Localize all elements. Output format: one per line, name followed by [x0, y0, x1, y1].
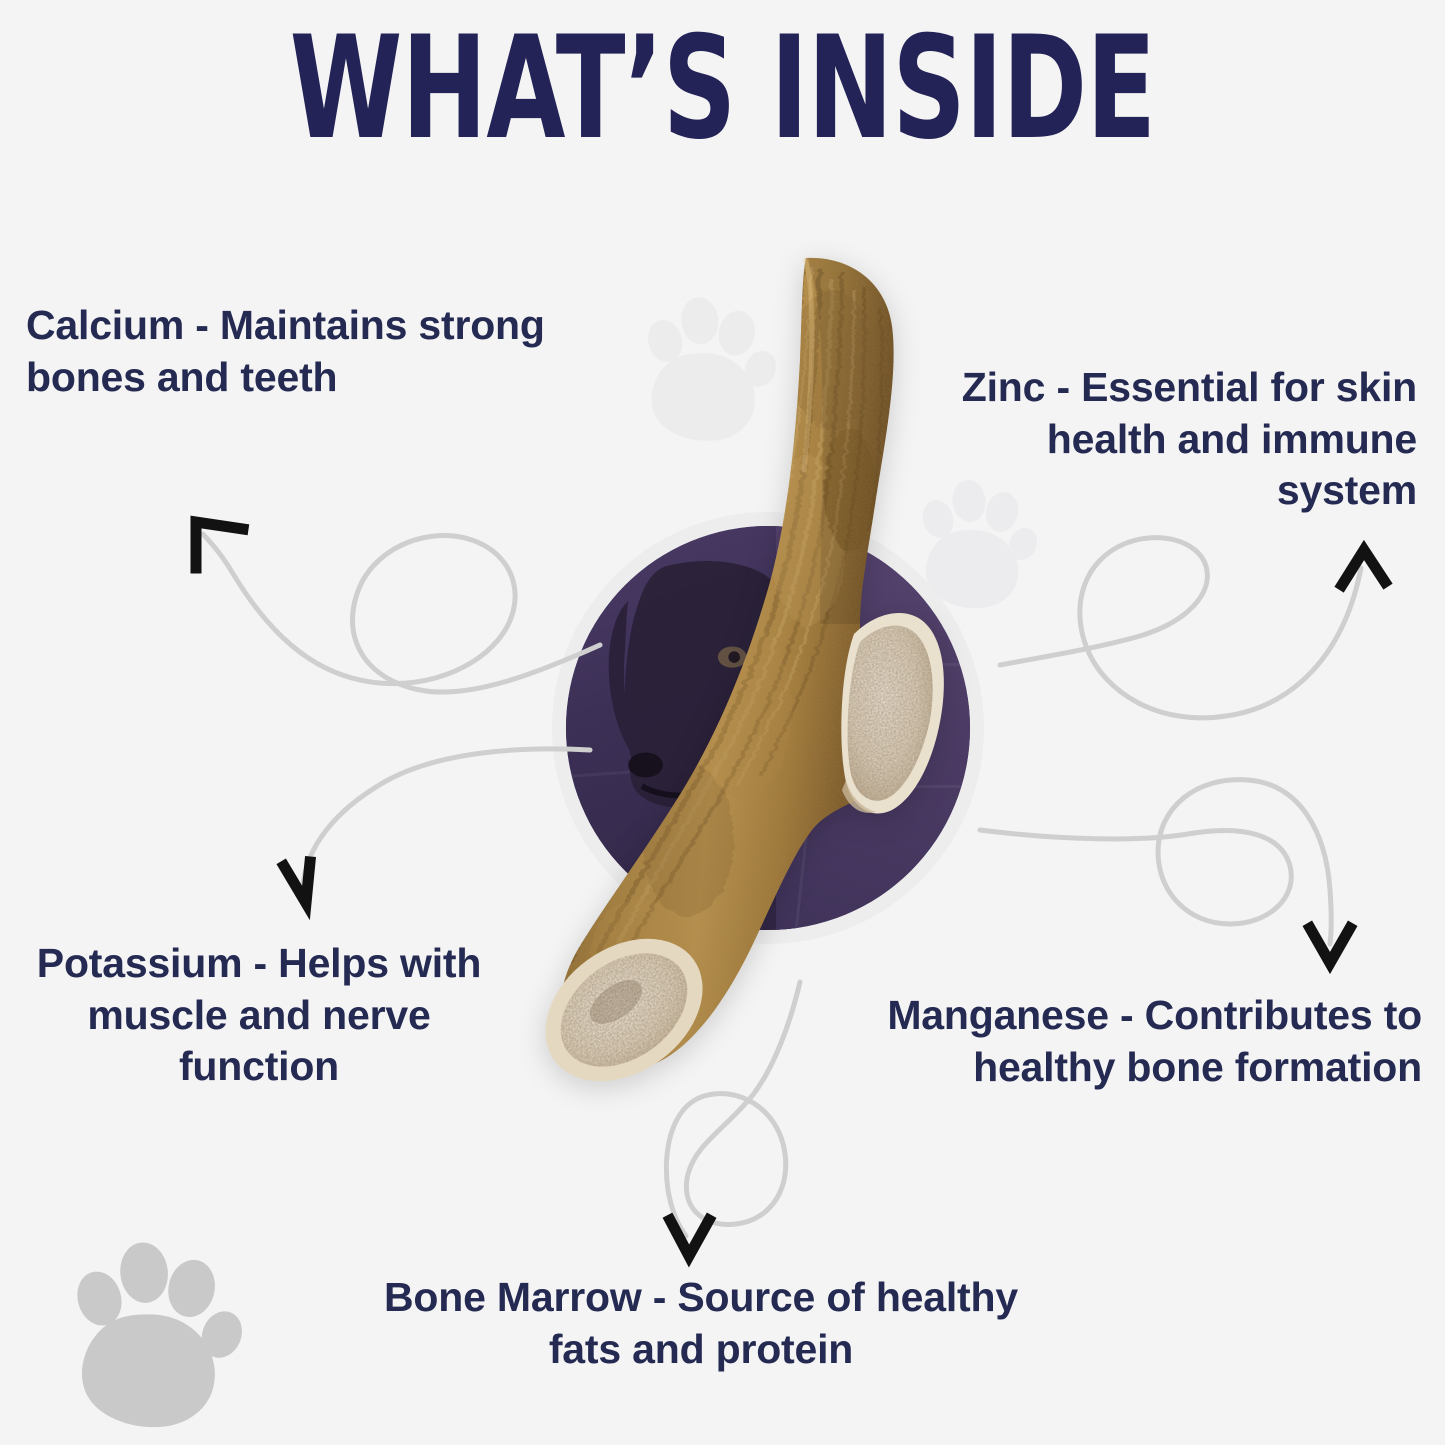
callout-bone-marrow: Bone Marrow - Source of healthy fats and… [355, 1272, 1047, 1375]
callout-calcium: Calcium - Maintains strong bones and tee… [26, 300, 566, 403]
antler-chew-product [520, 240, 1040, 1120]
connector-zinc-path [1000, 538, 1361, 718]
arrowhead-potassium-icon [284, 862, 310, 903]
infographic-canvas: WHAT’S INSIDE [0, 0, 1445, 1445]
antler-body [520, 240, 1040, 1120]
marrow-cut-surface-upper [841, 613, 944, 814]
arrowhead-calcium-icon [196, 522, 243, 568]
arrowhead-manganese-icon [1310, 928, 1350, 963]
page-title: WHAT’S INSIDE [145, 18, 1301, 160]
paw-print-icon [71, 1240, 249, 1427]
arrowhead-zinc-icon [1342, 550, 1385, 585]
arrowhead-marrow-icon [670, 1220, 709, 1256]
callout-potassium: Potassium - Helps with muscle and nerve … [14, 938, 504, 1093]
hero-product-composition [520, 240, 1040, 1120]
